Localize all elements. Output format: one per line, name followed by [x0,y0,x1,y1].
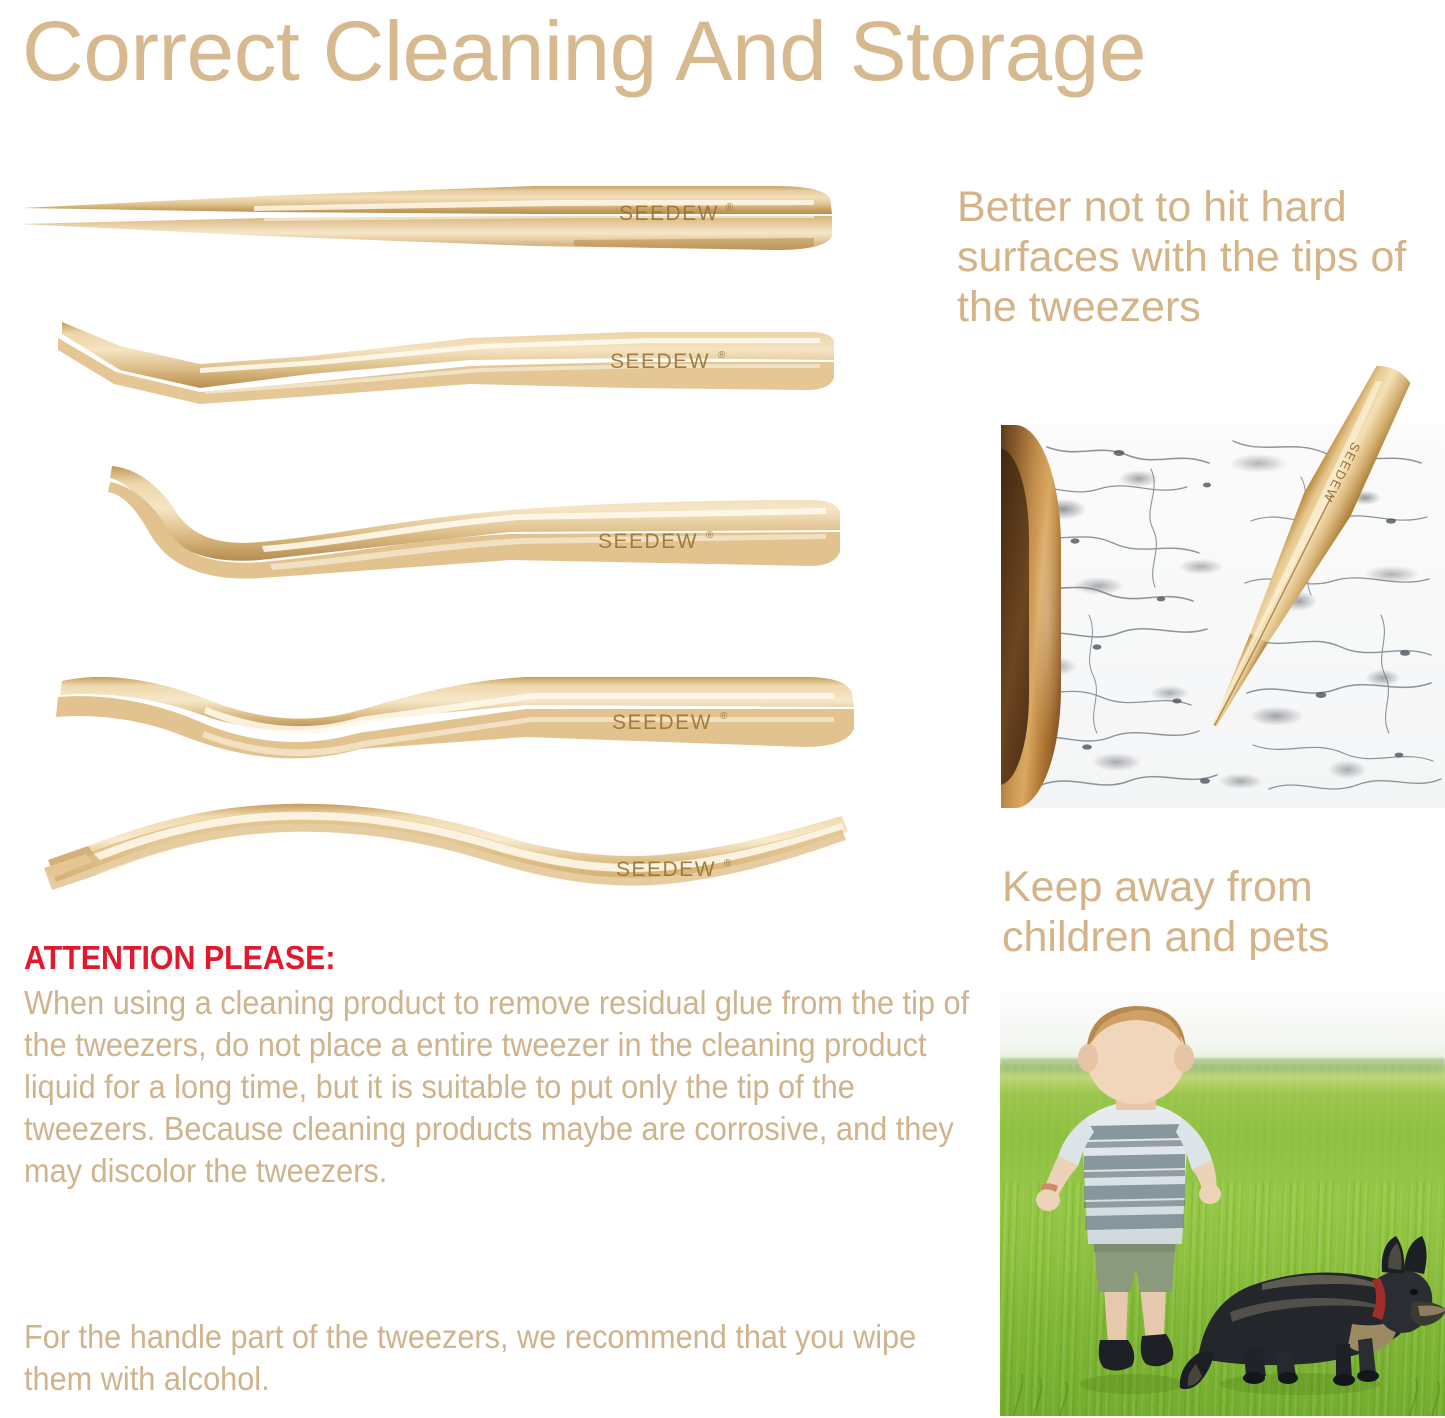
note-hard-surfaces: Better not to hit hard surfaces with the… [957,182,1445,332]
brand-engraving: SEEDEW [616,858,716,881]
brand-mark: ® [724,858,732,869]
bowl-inner-shadow [1001,448,1029,785]
brand-engraving: SEEDEW [612,711,712,734]
brand-engraving: SEEDEW [610,350,710,373]
attention-paragraph: When using a cleaning product to remove … [24,982,982,1192]
product-image-straight-precision-tweezer: SEEDEW ® [14,180,859,260]
page-title: Correct Cleaning And Storage [22,6,1445,96]
attention-paragraph-2: For the handle part of the tweezers, we … [24,1316,982,1400]
brand-engraving: SEEDEW [619,202,719,225]
field-subjects [1000,992,1445,1416]
product-image-curved-j-tweezer: SEEDEW ® [110,460,870,580]
brand-mark: ® [720,711,728,722]
brand-engraving: SEEDEW [598,530,698,553]
product-image-angled-45-tweezer: SEEDEW ® [50,312,860,407]
attention-block: ATTENTION PLEASE: When using a cleaning … [24,938,984,1192]
german-shepherd-dog [1180,1236,1445,1395]
attention-heading: ATTENTION PLEASE: [24,938,907,978]
brand-mark: ® [726,202,734,213]
child-and-dog-photo [1000,992,1445,1416]
marble-photo-tweezer: SEEDEW [1150,348,1445,768]
product-image-boot-s-curve-tweezer: SEEDEW ® [36,790,861,895]
note-children-pets: Keep away from children and pets [1002,862,1445,962]
tweezer-gallery: SEEDEW ® SEEDEW ® [0,160,960,920]
product-image-curved-volume-tweezer: SEEDEW ® [56,655,871,765]
brand-mark: ® [718,350,726,361]
toddler-figure [1036,1006,1221,1394]
wooden-bowl-edge [1001,425,1061,808]
brand-mark: ® [706,530,714,541]
